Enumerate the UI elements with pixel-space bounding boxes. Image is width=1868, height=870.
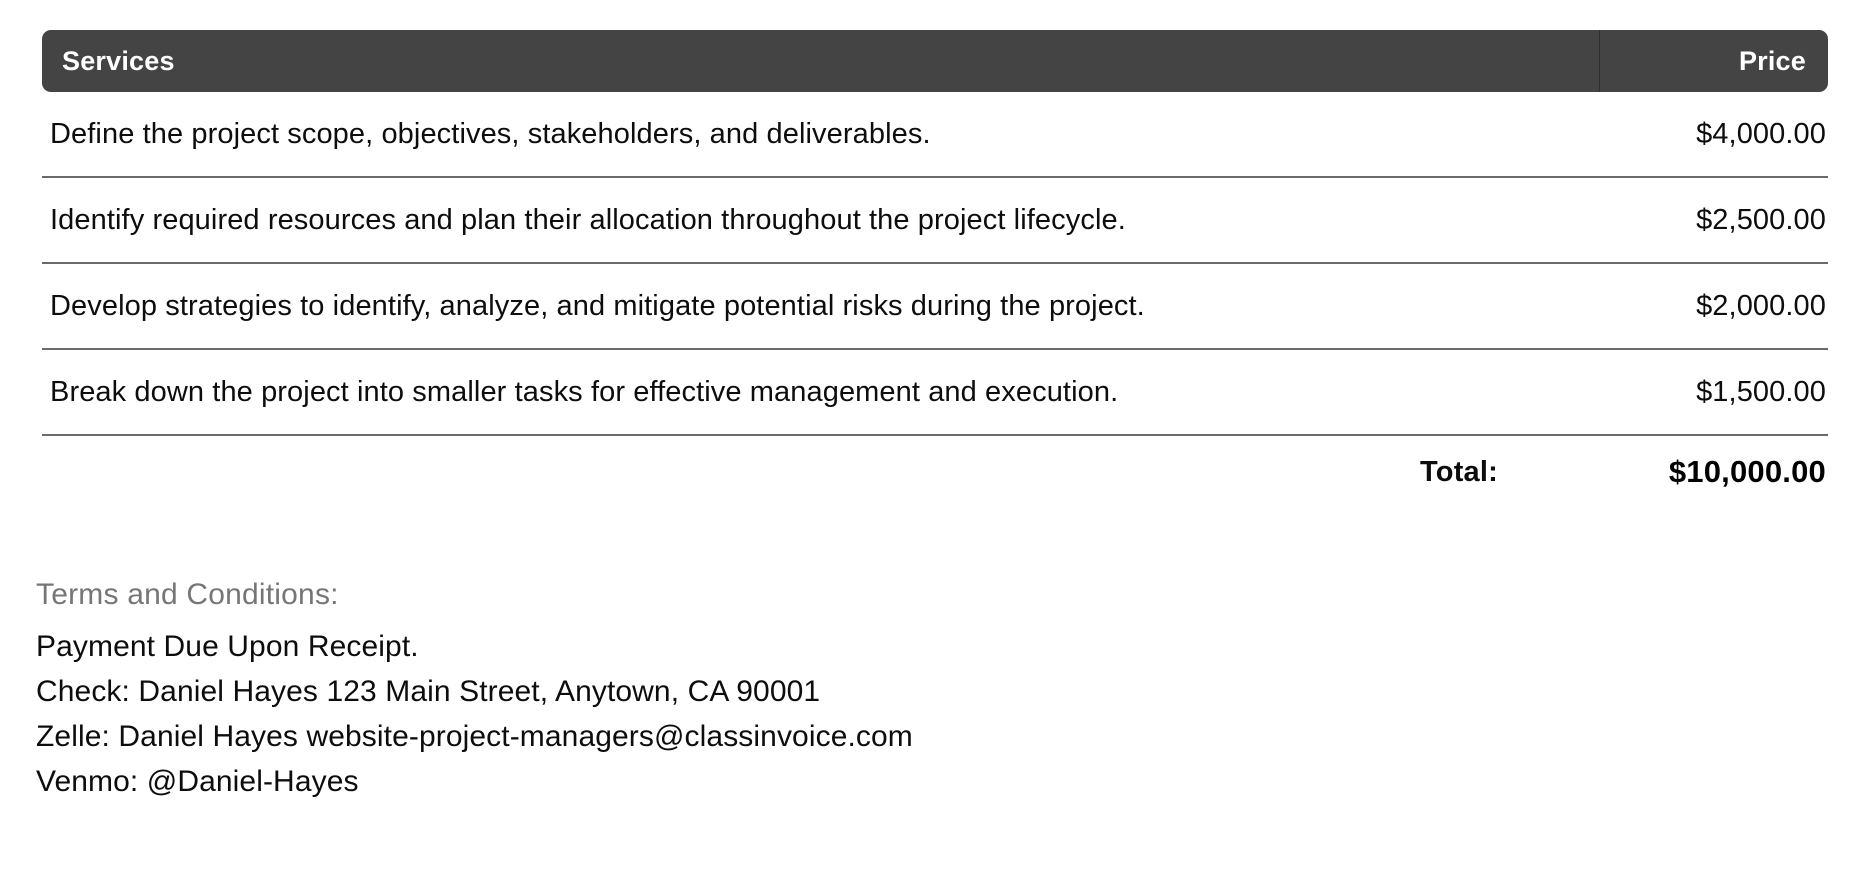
- column-header-price: Price: [1600, 48, 1828, 75]
- table-header-row: Services Price: [42, 30, 1828, 92]
- terms-line-venmo: Venmo: @Daniel-Hayes: [36, 759, 1536, 804]
- terms-line-check: Check: Daniel Hayes 123 Main Street, Any…: [36, 669, 1536, 714]
- table-row: Break down the project into smaller task…: [42, 350, 1828, 436]
- table-row: Develop strategies to identify, analyze,…: [42, 264, 1828, 350]
- terms-title: Terms and Conditions:: [36, 578, 1536, 612]
- invoice-page: Services Price Define the project scope,…: [0, 0, 1868, 870]
- total-amount: $10,000.00: [1566, 454, 1828, 490]
- terms-line-zelle: Zelle: Daniel Hayes website-project-mana…: [36, 714, 1536, 759]
- terms-line-payment: Payment Due Upon Receipt.: [36, 624, 1536, 669]
- table-total-row: Total: $10,000.00: [42, 436, 1828, 508]
- service-description: Break down the project into smaller task…: [42, 375, 1566, 410]
- service-description: Develop strategies to identify, analyze,…: [42, 289, 1566, 324]
- column-header-services: Services: [42, 48, 1599, 75]
- service-price: $2,500.00: [1566, 203, 1828, 238]
- terms-and-conditions-section: Terms and Conditions: Payment Due Upon R…: [36, 578, 1536, 804]
- service-price: $2,000.00: [1566, 289, 1828, 324]
- service-description: Define the project scope, objectives, st…: [42, 117, 1566, 152]
- table-row: Identify required resources and plan the…: [42, 178, 1828, 264]
- total-label: Total:: [1420, 456, 1566, 489]
- service-price: $4,000.00: [1566, 117, 1828, 152]
- service-description: Identify required resources and plan the…: [42, 203, 1566, 238]
- services-price-table: Services Price Define the project scope,…: [42, 30, 1828, 508]
- table-row: Define the project scope, objectives, st…: [42, 92, 1828, 178]
- service-price: $1,500.00: [1566, 375, 1828, 410]
